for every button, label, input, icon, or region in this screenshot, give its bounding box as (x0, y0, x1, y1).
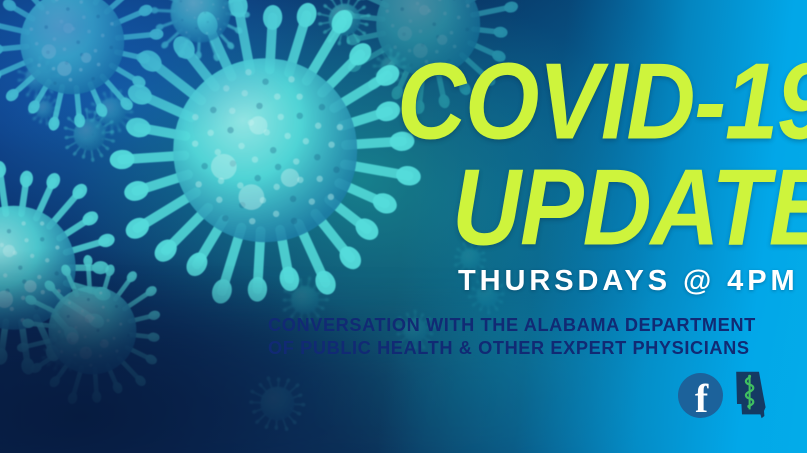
facebook-f-glyph: f (695, 379, 708, 418)
covid-19-update-poster: COVID-19 UPDATE THURSDAYS @ 4PM CONVERSA… (0, 0, 807, 453)
poster-description-line-1: CONVERSATION WITH THE ALABAMA DEPARTMENT (268, 316, 756, 334)
poster-description-line-2: OF PUBLIC HEALTH & OTHER EXPERT PHYSICIA… (268, 339, 750, 357)
poster-airtime: THURSDAYS @ 4PM (458, 267, 799, 296)
poster-title-line-1: COVID-19 (397, 48, 807, 156)
poster-content: COVID-19 UPDATE THURSDAYS @ 4PM CONVERSA… (0, 0, 807, 453)
poster-title-line-2: UPDATE (452, 154, 807, 262)
alabama-department-of-public-health-logo-icon[interactable] (733, 371, 767, 419)
logo-group: f (678, 371, 767, 419)
facebook-logo-icon[interactable]: f (678, 373, 723, 418)
